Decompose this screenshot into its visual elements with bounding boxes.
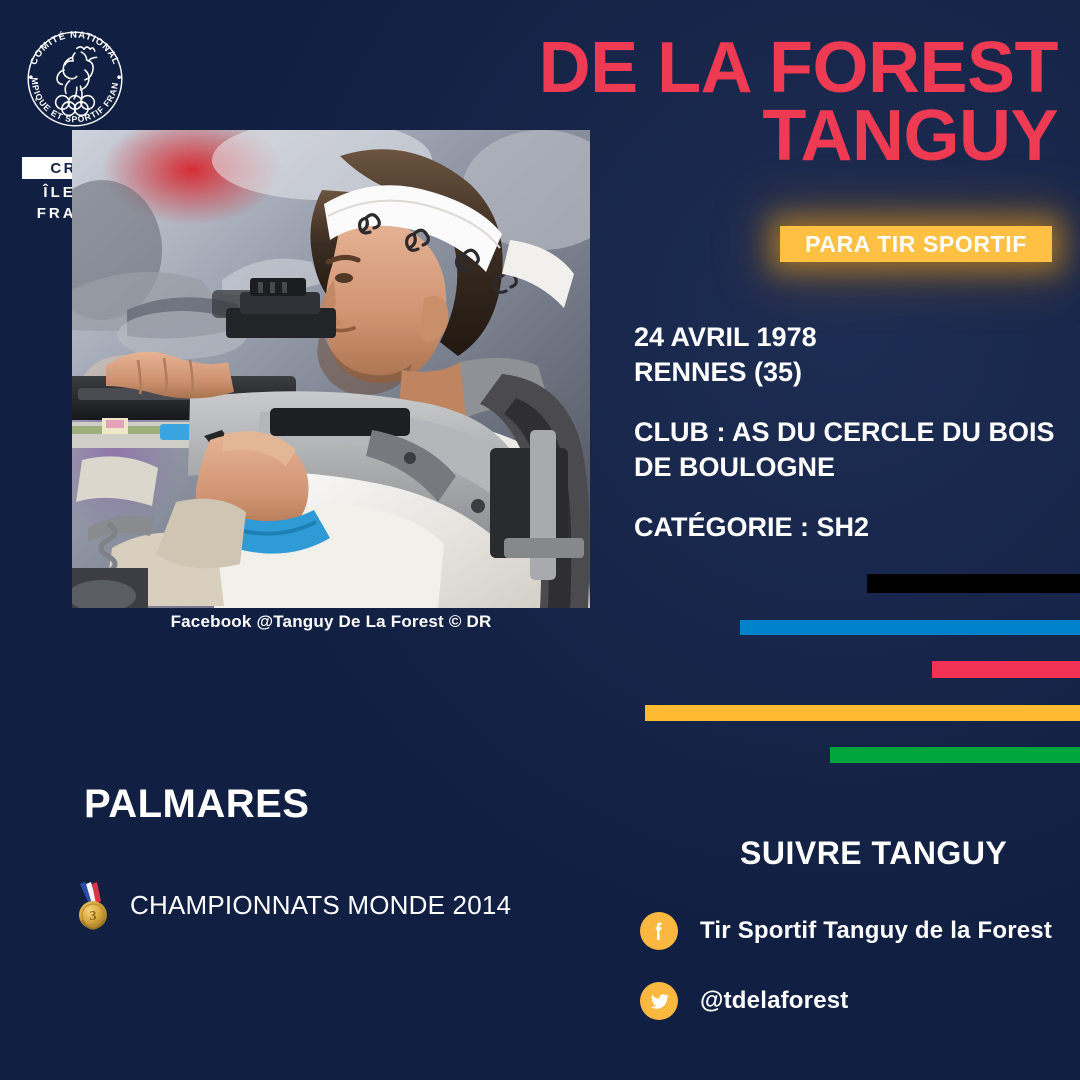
bar-black [867, 574, 1080, 593]
bar-blue [740, 620, 1080, 635]
facebook-handle[interactable]: Tir Sportif Tanguy de la Forest [700, 917, 1052, 945]
athlete-photo-image [72, 130, 590, 608]
birth-date: 24 AVRIL 1978 [634, 322, 817, 352]
page-title: DE LA FOREST TANGUY [458, 34, 1058, 171]
bar-green [830, 747, 1080, 763]
social-link-facebook[interactable]: Tir Sportif Tanguy de la Forest [640, 912, 1080, 950]
discipline-badge: PARA TIR SPORTIF [780, 226, 1052, 262]
club-info: CLUB : AS DU CERCLE DU BOIS DE BOULOGNE [634, 415, 1064, 484]
palmares-list: 3 CHAMPIONNATS MONDE 2014 [72, 880, 592, 946]
bronze-medal-emoji: 3 [72, 880, 114, 930]
social-link-twitter[interactable]: @tdelaforest [640, 982, 1080, 1020]
discipline-badge-label: PARA TIR SPORTIF [805, 231, 1027, 258]
photo-credit: Facebook @Tanguy De La Forest © DR [72, 612, 590, 632]
athlete-info: 24 AVRIL 1978 RENNES (35) CLUB : AS DU C… [634, 320, 1064, 545]
athlete-photo [72, 130, 590, 608]
svg-text:3: 3 [90, 909, 97, 924]
palmares-entry-label: CHAMPIONNATS MONDE 2014 [130, 890, 511, 921]
athlete-profile-card: COMITÉ NATIONAL OLYMPIQUE ET SPORTIF FRA… [0, 0, 1080, 1080]
social-links: Tir Sportif Tanguy de la Forest @tdelafo… [640, 912, 1080, 1052]
facebook-icon[interactable] [640, 912, 678, 950]
twitter-icon[interactable] [640, 982, 678, 1020]
bar-yellow [645, 705, 1080, 721]
cnosf-rooster-olympic-rings-logo: COMITÉ NATIONAL OLYMPIQUE ET SPORTIF FRA… [21, 25, 129, 133]
athlete-first-name: TANGUY [458, 102, 1058, 170]
twitter-handle[interactable]: @tdelaforest [700, 987, 849, 1015]
follow-heading: SUIVRE TANGUY [740, 835, 1007, 872]
palmares-heading: PALMARES [84, 782, 309, 827]
birth-place: RENNES (35) [634, 357, 802, 387]
category-info: CATÉGORIE : SH2 [634, 510, 1064, 545]
birth-info: 24 AVRIL 1978 RENNES (35) [634, 320, 1064, 389]
palmares-entry: 3 CHAMPIONNATS MONDE 2014 [72, 880, 592, 930]
bar-red [932, 661, 1080, 678]
svg-text:COMITÉ NATIONAL: COMITÉ NATIONAL [28, 30, 121, 67]
